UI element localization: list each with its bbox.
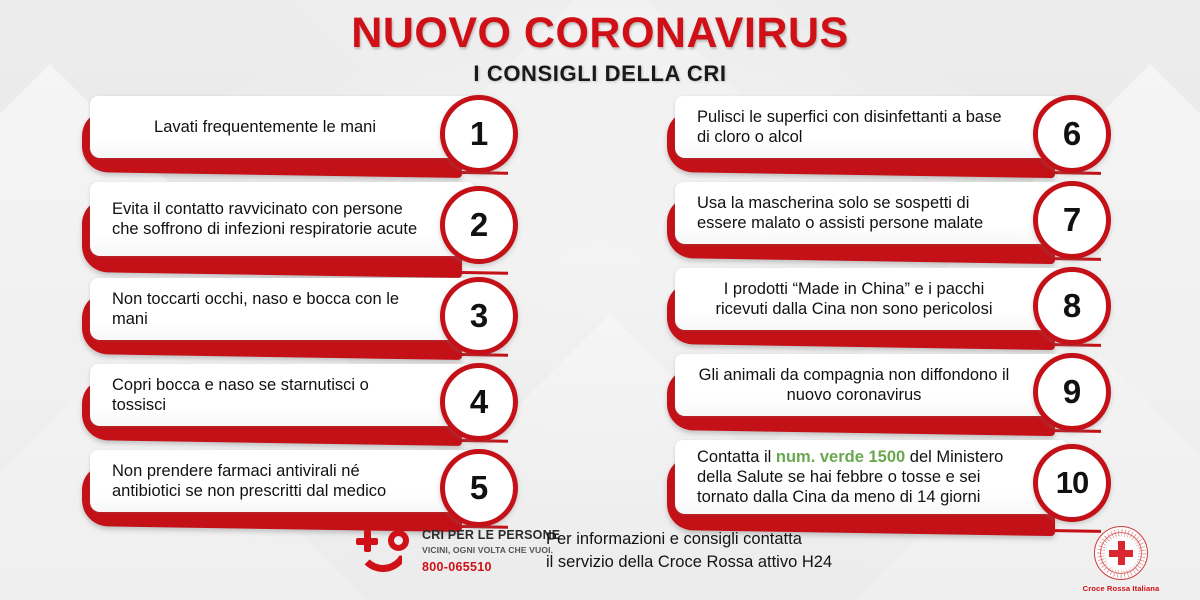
tip-text: Copri bocca e naso se starnutisci o toss…	[112, 375, 418, 415]
tip-card: Copri bocca e naso se starnutisci o toss…	[90, 364, 474, 426]
tip-text: Evita il contatto ravvicinato con person…	[112, 199, 418, 239]
tip-text: I prodotti “Made in China” e i pacchi ri…	[697, 279, 1011, 319]
tip-card: I prodotti “Made in China” e i pacchi ri…	[675, 268, 1067, 330]
tips-column-left: Lavati frequentemente le mani 1 Evita il…	[82, 96, 514, 536]
footer-message: Per informazioni e consigli contatta il …	[546, 528, 832, 575]
header: NUOVO CORONAVIRUS I CONSIGLI DELLA CRI	[0, 4, 1200, 87]
tip-item: Evita il contatto ravvicinato con person…	[82, 182, 514, 268]
tip-number-badge: 4	[440, 363, 518, 441]
tip-text-before: Contatta il	[697, 448, 776, 466]
green-number-highlight: num. verde 1500	[776, 448, 905, 466]
page-subtitle: I CONSIGLI DELLA CRI	[0, 61, 1200, 87]
tip-card: Contatta il num. verde 1500 del Minister…	[675, 440, 1067, 514]
tip-item: Copri bocca e naso se starnutisci o toss…	[82, 364, 514, 440]
infographic-page: NUOVO CORONAVIRUS I CONSIGLI DELLA CRI L…	[0, 0, 1200, 600]
tip-card: Evita il contatto ravvicinato con person…	[90, 182, 474, 256]
tip-number-badge: 8	[1033, 267, 1111, 345]
tip-item: Lavati frequentemente le mani 1	[82, 96, 514, 172]
tip-item: Gli animali da compagnia non diffondono …	[667, 354, 1107, 430]
tips-column-right: Pulisci le superfici con disinfettanti a…	[667, 96, 1107, 536]
tip-number-badge: 1	[440, 95, 518, 173]
tip-item: Non prendere farmaci antivirali né antib…	[82, 450, 514, 526]
tip-text: Pulisci le superfici con disinfettanti a…	[697, 107, 1011, 147]
smile-arc-icon	[357, 542, 409, 572]
tip-number-badge: 6	[1033, 95, 1111, 173]
cri-logo-line2: VICINI, OGNI VOLTA CHE VUOI.	[422, 545, 560, 555]
red-cross-emblem-icon	[1094, 526, 1148, 580]
footer-message-line2: il servizio della Croce Rossa attivo H24	[546, 551, 832, 574]
tip-number-badge: 7	[1033, 181, 1111, 259]
tip-text: Lavati frequentemente le mani	[112, 117, 418, 137]
tip-card: Pulisci le superfici con disinfettanti a…	[675, 96, 1067, 158]
tip-number-badge: 10	[1033, 444, 1111, 522]
cri-logo-phone: 800-065510	[422, 560, 560, 575]
tip-number-badge: 2	[440, 186, 518, 264]
tip-number-badge: 5	[440, 449, 518, 527]
tip-text: Usa la mascherina solo se sospetti di es…	[697, 193, 1011, 233]
footer-message-line1: Per informazioni e consigli contatta	[546, 528, 832, 551]
tip-card: Gli animali da compagnia non diffondono …	[675, 354, 1067, 416]
emblem-caption: Croce Rossa Italiana	[1078, 584, 1164, 593]
tip-item: Contatta il num. verde 1500 del Minister…	[667, 440, 1107, 526]
tip-item: Pulisci le superfici con disinfettanti a…	[667, 96, 1107, 172]
tip-item: I prodotti “Made in China” e i pacchi ri…	[667, 268, 1107, 344]
cri-per-le-persone-logo: CRI PER LE PERSONE VICINI, OGNI VOLTA CH…	[356, 528, 560, 575]
red-cross-glyph-icon	[1109, 541, 1133, 565]
tip-text: Contatta il num. verde 1500 del Minister…	[697, 447, 1011, 507]
tip-number-badge: 3	[440, 277, 518, 355]
footer: CRI PER LE PERSONE VICINI, OGNI VOLTA CH…	[0, 522, 1200, 594]
tip-text: Gli animali da compagnia non diffondono …	[697, 365, 1011, 405]
tip-item: Non toccarti occhi, naso e bocca con le …	[82, 278, 514, 354]
croce-rossa-italiana-emblem: Croce Rossa Italiana	[1078, 526, 1164, 593]
tip-text: Non prendere farmaci antivirali né antib…	[112, 461, 418, 501]
page-title: NUOVO CORONAVIRUS	[0, 12, 1200, 55]
cri-logo-line1: CRI PER LE PERSONE	[422, 528, 560, 543]
tip-card: Non toccarti occhi, naso e bocca con le …	[90, 278, 474, 340]
tip-card: Lavati frequentemente le mani	[90, 96, 474, 158]
tip-text: Non toccarti occhi, naso e bocca con le …	[112, 289, 418, 329]
tip-item: Usa la mascherina solo se sospetti di es…	[667, 182, 1107, 258]
tip-card: Non prendere farmaci antivirali né antib…	[90, 450, 474, 512]
cri-smiley-icon	[356, 528, 412, 574]
tip-number-badge: 9	[1033, 353, 1111, 431]
cri-logo-text: CRI PER LE PERSONE VICINI, OGNI VOLTA CH…	[422, 528, 560, 575]
tip-card: Usa la mascherina solo se sospetti di es…	[675, 182, 1067, 244]
